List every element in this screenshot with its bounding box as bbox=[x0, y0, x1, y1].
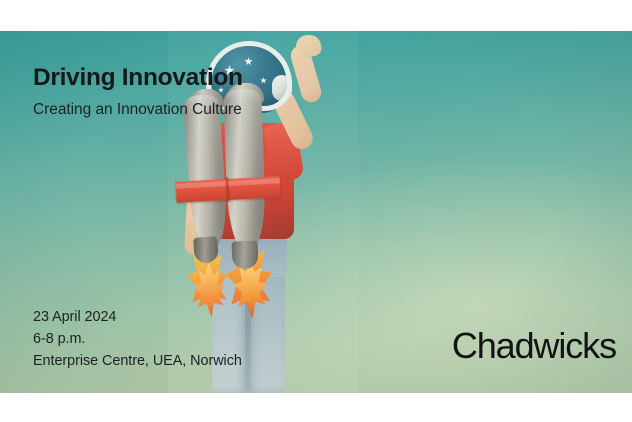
brand-logo: Chadwicks bbox=[452, 328, 616, 364]
raised-fist bbox=[294, 33, 323, 60]
headline-block: Driving Innovation Creating an Innovatio… bbox=[33, 65, 243, 120]
logo-wordmark: Chadwicks bbox=[452, 328, 616, 364]
event-time: 6-8 p.m. bbox=[33, 329, 242, 351]
event-date: 23 April 2024 bbox=[33, 307, 242, 329]
event-details-block: 23 April 2024 6-8 p.m. Enterprise Centre… bbox=[33, 307, 242, 373]
event-banner: Driving Innovation Creating an Innovatio… bbox=[0, 31, 632, 393]
poster-page: Driving Innovation Creating an Innovatio… bbox=[0, 0, 632, 422]
event-title: Driving Innovation bbox=[33, 65, 243, 92]
event-subtitle: Creating an Innovation Culture bbox=[33, 101, 243, 120]
event-location: Enterprise Centre, UEA, Norwich bbox=[33, 351, 242, 373]
